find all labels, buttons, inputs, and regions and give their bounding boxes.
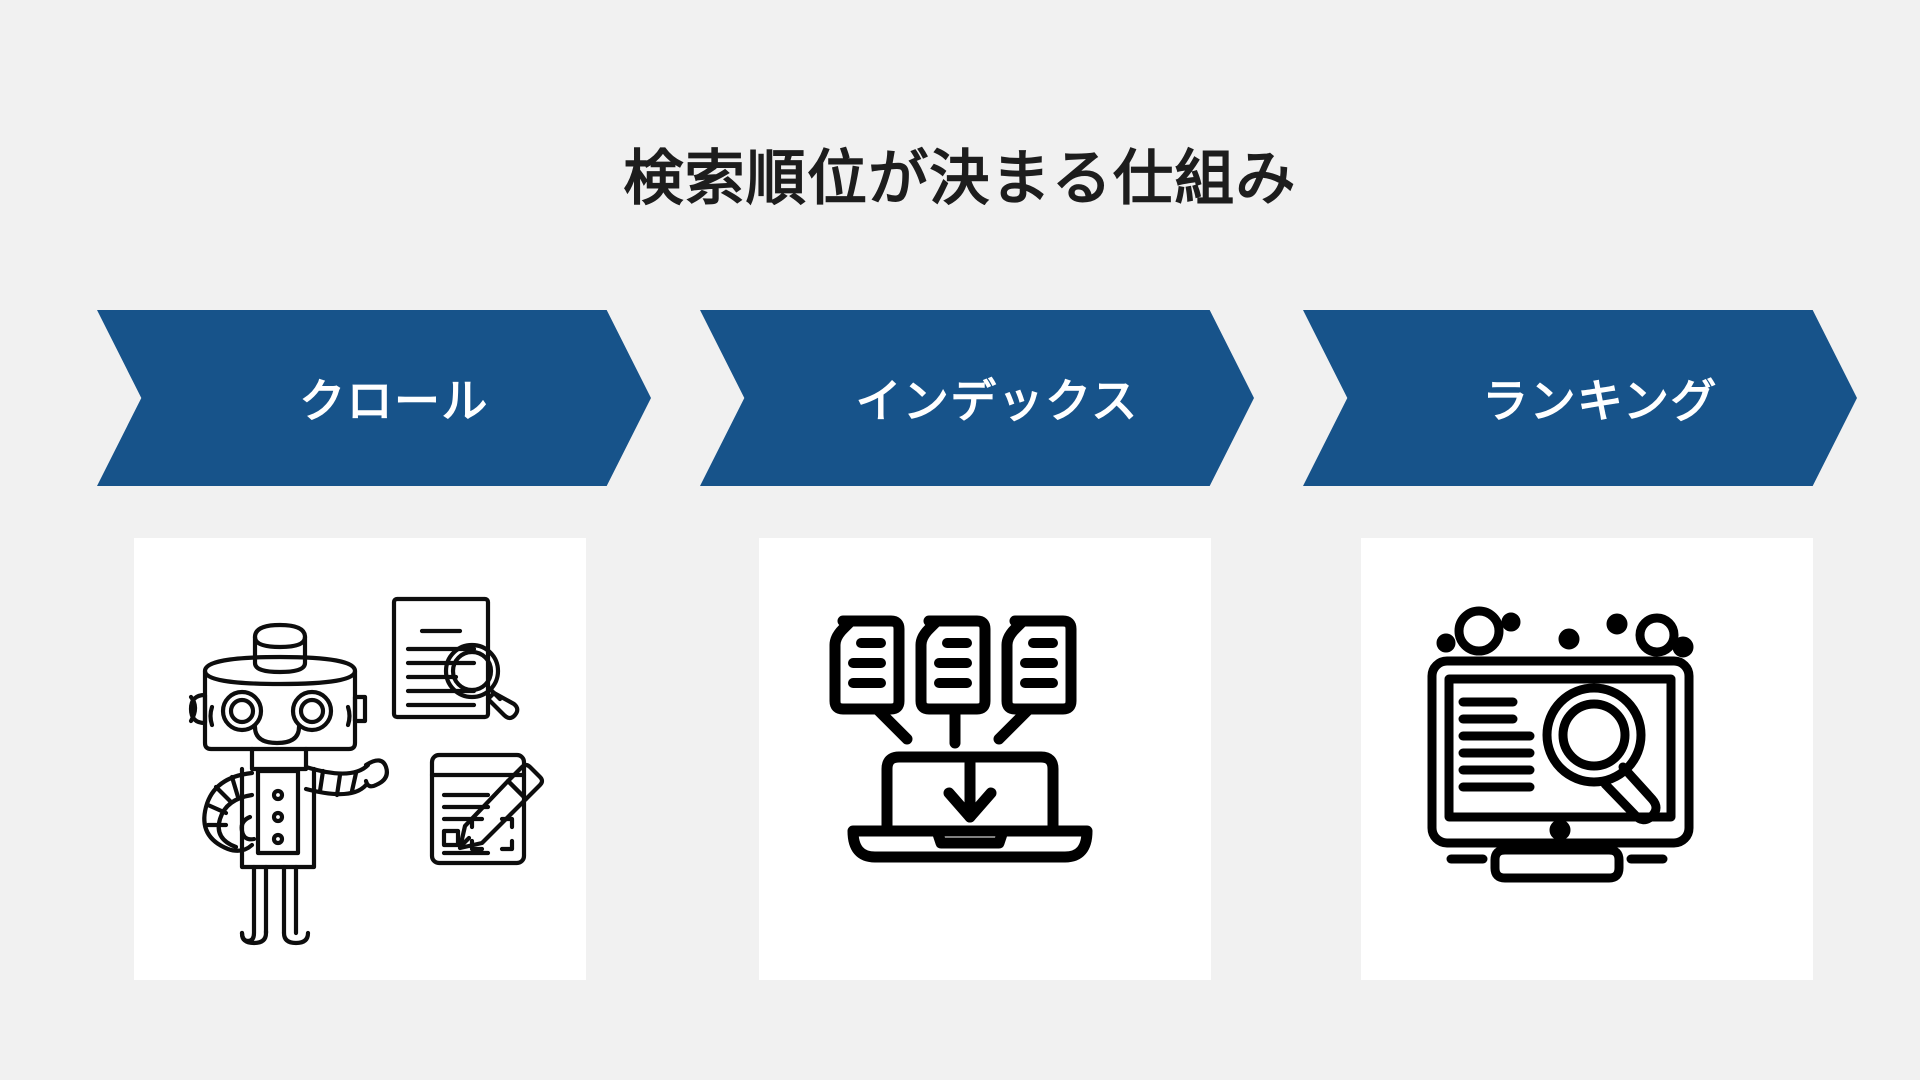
step-chevron-index[interactable]: インデックス [700, 310, 1254, 486]
document-callout-icon-3 [999, 621, 1071, 739]
step-label-ranking: ランキング [1482, 365, 1718, 431]
robot-crawling-documents-illustration [160, 559, 560, 959]
document-with-pencil-icon [432, 755, 542, 863]
step-label-index: インデックス [856, 365, 1139, 431]
process-steps-row: クロール インデックス ランキング [0, 310, 1920, 486]
robot-legs [242, 867, 308, 943]
step-label-crawl: クロール [299, 365, 489, 431]
robot-hat-icon [255, 625, 305, 672]
page-title: 検索順位が決まる仕組み [0, 144, 1920, 213]
document-with-magnifier-icon [394, 599, 517, 718]
download-arrow-icon [949, 763, 991, 817]
magnifier-icon [1547, 688, 1656, 820]
robot-left-arm [204, 773, 254, 851]
illustration-card-crawl [134, 538, 586, 980]
step-chevron-crawl[interactable]: クロール [97, 310, 651, 486]
document-callout-icon-1 [835, 621, 907, 739]
step-chevron-ranking[interactable]: ランキング [1303, 310, 1857, 486]
result-text-lines [1463, 702, 1530, 787]
documents-into-laptop-illustration [785, 559, 1185, 959]
illustration-cards-row [0, 538, 1920, 980]
document-callout-icon-2 [921, 621, 985, 743]
monitor-search-results-illustration [1387, 559, 1787, 959]
illustration-card-ranking [1361, 538, 1813, 980]
sparkle-dots-icon [1441, 611, 1689, 653]
robot-waving-arm [306, 760, 387, 795]
illustration-card-index [759, 538, 1211, 980]
